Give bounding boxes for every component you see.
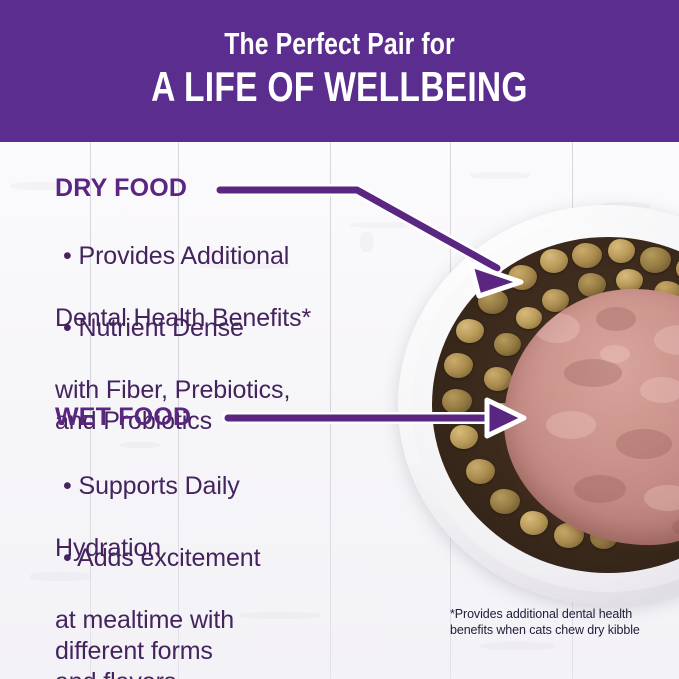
wood-grain: [470, 172, 530, 179]
plank-seam: [330, 142, 331, 679]
bullet-first-line: • Provides Additional: [55, 241, 311, 272]
wood-grain: [480, 642, 555, 650]
bullet-first-line: • Adds excitement: [55, 543, 260, 574]
bullet-first-line: • Supports Daily: [55, 471, 240, 502]
footnote-disclaimer: *Provides additional dental health benef…: [450, 606, 670, 638]
bowl-interior: [432, 237, 679, 573]
dry-food-heading: DRY FOOD: [55, 176, 187, 201]
header-banner: The Perfect Pair for A LIFE OF WELLBEING: [0, 0, 679, 142]
header-title-line2: A LIFE OF WELLBEING: [68, 66, 611, 108]
wet-food-heading: WET FOOD: [55, 405, 191, 430]
bullet-first-line: • Nutrient Dense: [55, 313, 290, 344]
wood-grain: [360, 232, 374, 252]
bullet-rest-lines: at mealtime with different forms and fla…: [55, 605, 260, 679]
header-title-line1: The Perfect Pair for: [68, 28, 611, 59]
promo-infographic: The Perfect Pair for A LIFE OF WELLBEING: [0, 0, 679, 679]
wet-food-bullet-2: • Adds excitement at mealtime with diffe…: [55, 512, 260, 679]
bowl-of-cat-food: [398, 205, 679, 605]
